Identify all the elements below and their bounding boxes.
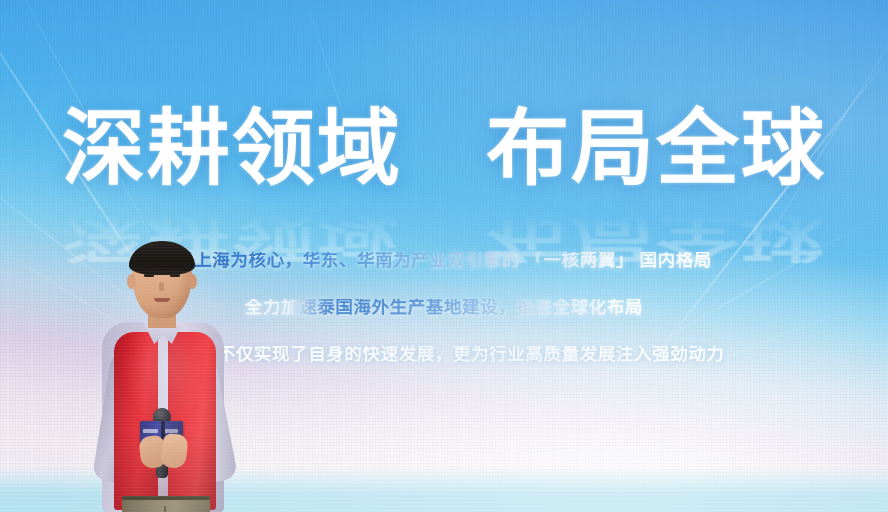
page-title-part2: 布局全球 bbox=[486, 102, 826, 195]
speaker-nose bbox=[159, 282, 164, 291]
page-title: 深耕领域 布局全球 bbox=[0, 107, 888, 190]
page-title-part1: 深耕领域 bbox=[62, 102, 402, 195]
speaker-ear-right bbox=[188, 274, 197, 289]
speaker-eyebrow-left bbox=[143, 269, 155, 271]
speaker-trouser-seam bbox=[164, 506, 166, 512]
speaker-eye-right bbox=[170, 274, 180, 277]
speaker-mouth bbox=[154, 298, 170, 302]
speaker-ear-left bbox=[127, 274, 136, 289]
speaker-trousers bbox=[122, 500, 210, 512]
subtitle-line-1-text: 以上海为核心，华东、华南为产业双引擎的 「一核两翼」 国内格局 bbox=[176, 252, 712, 270]
subtitle-line-2-text: 全力加速泰国海外生产基地建设，推进全球化布局 bbox=[245, 299, 643, 317]
subtitle-line-3-text: 亚新材不仅实现了自身的快速发展，更为行业高质量发展注入强劲动力 bbox=[163, 346, 724, 364]
speaker-eye-left bbox=[144, 274, 154, 277]
speaker-eyebrow-right bbox=[169, 269, 181, 271]
stage-scene: 深耕领域 布局全球 深耕领域 布局全球 以上海为核心，华东、华南为产业双引擎的 … bbox=[0, 0, 888, 512]
speaker-figure bbox=[88, 238, 238, 512]
speaker-hair bbox=[129, 241, 195, 275]
